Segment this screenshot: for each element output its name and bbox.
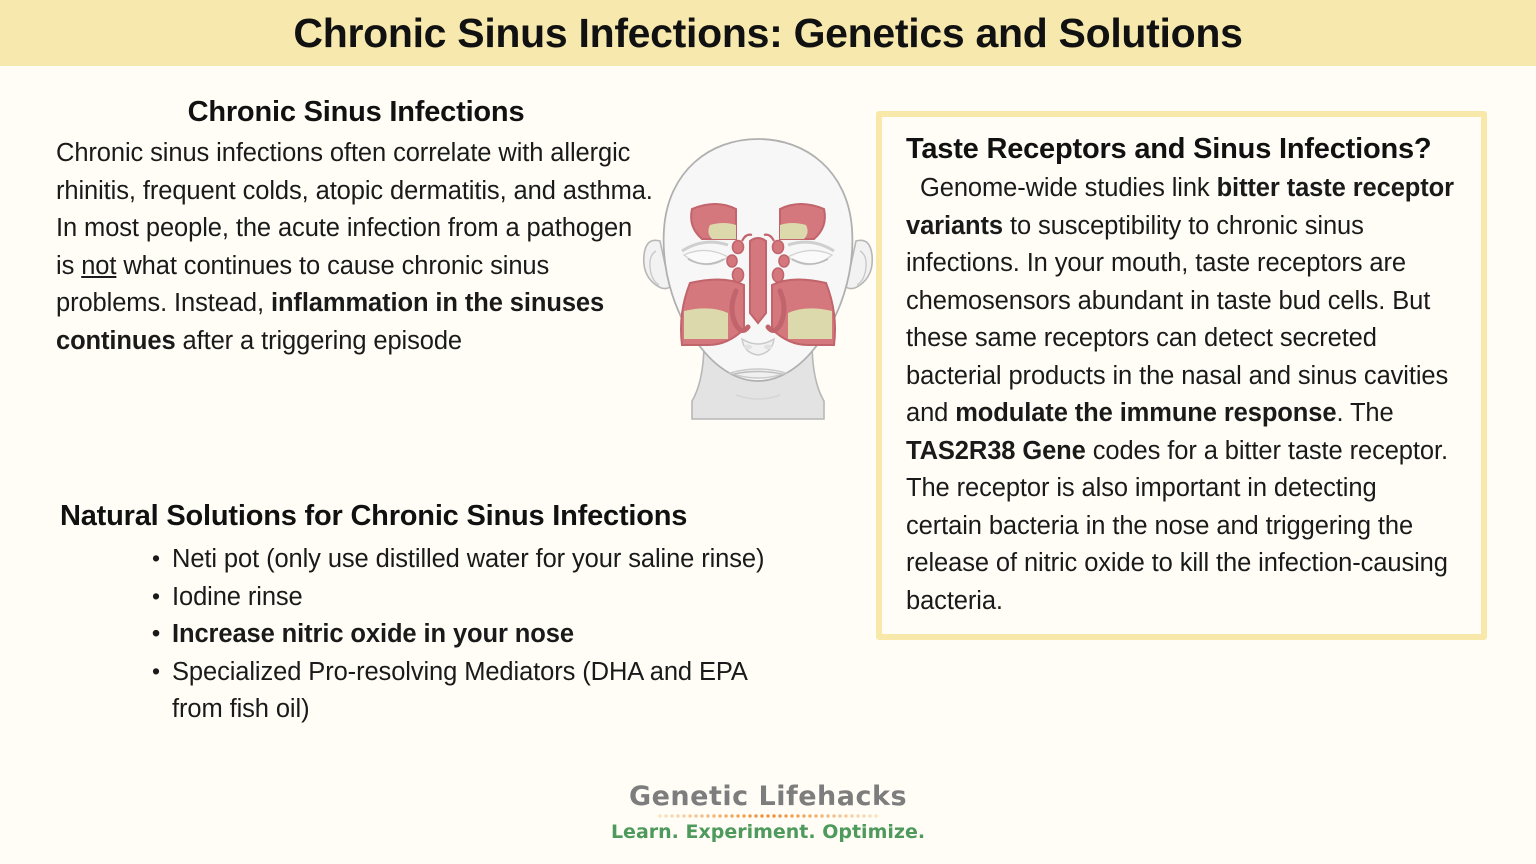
text-run: . The	[1336, 399, 1393, 427]
text-run: after a triggering episode	[176, 327, 462, 355]
right-panel-heading: Taste Receptors and Sinus Infections?	[906, 133, 1459, 166]
logo-tagline: Learn. Experiment. Optimize.	[0, 820, 1536, 844]
text-run: to susceptibility to chronic sinus infec…	[906, 212, 1448, 428]
head-sinus-anatomy-illustration	[632, 133, 884, 425]
logo-dotted-divider	[657, 813, 879, 819]
infographic-page: Chronic Sinus Infections: Genetics and S…	[0, 0, 1536, 864]
emphasis-bold: modulate the immune response	[955, 399, 1336, 427]
list-item: Neti pot (only use distilled water for y…	[152, 541, 766, 579]
emphasis-bold: TAS2R38 Gene	[906, 437, 1086, 465]
list-item: Iodine rinse	[152, 579, 766, 617]
text-run: Genome-wide studies link	[920, 174, 1217, 202]
emphasis-underline: not	[81, 252, 116, 280]
left-section-heading: Chronic Sinus Infections	[56, 96, 656, 129]
left-column: Chronic Sinus Infections Chronic sinus i…	[56, 96, 656, 360]
solutions-list: Neti pot (only use distilled water for y…	[56, 541, 766, 729]
taste-receptors-panel: Taste Receptors and Sinus Infections? Ge…	[876, 111, 1487, 640]
list-item: Specialized Pro-resolving Mediators (DHA…	[152, 654, 766, 729]
solutions-heading: Natural Solutions for Chronic Sinus Infe…	[60, 500, 766, 533]
right-panel-paragraph: Genome-wide studies link bitter taste re…	[906, 170, 1459, 620]
list-item: Increase nitric oxide in your nose	[152, 616, 766, 654]
left-section-paragraph: Chronic sinus infections often correlate…	[56, 135, 656, 360]
natural-solutions-section: Natural Solutions for Chronic Sinus Infe…	[56, 500, 766, 729]
site-logo: Genetic Lifehacks Learn. Experiment. Opt…	[0, 782, 1536, 844]
page-title: Chronic Sinus Infections: Genetics and S…	[0, 8, 1536, 58]
logo-brand-text: Genetic Lifehacks	[0, 782, 1536, 812]
